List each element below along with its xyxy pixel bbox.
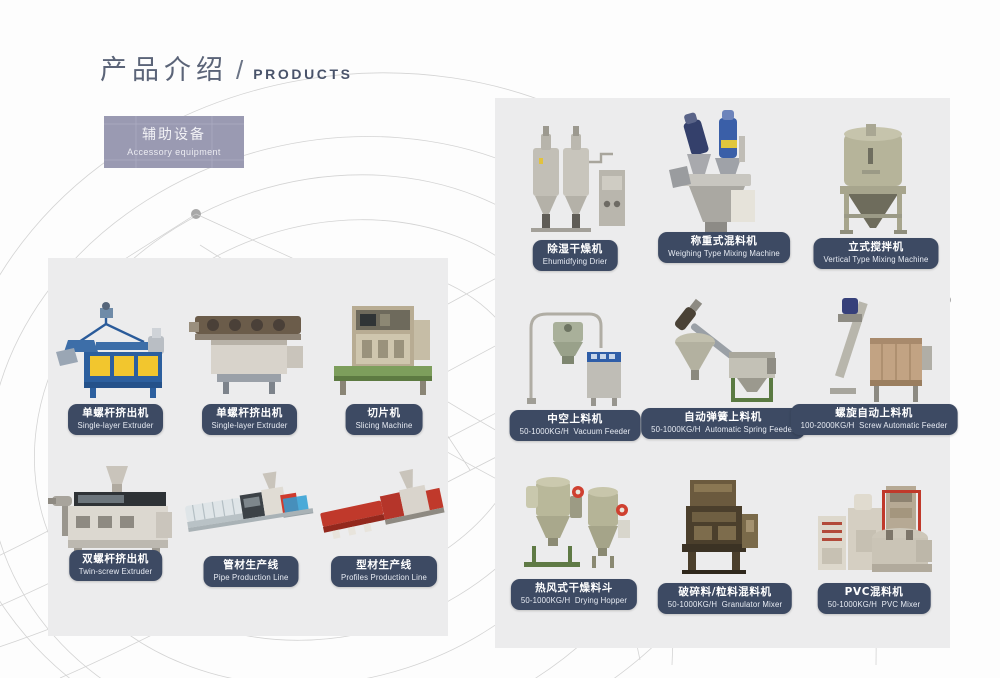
product-label-en: Profiles Production Line: [341, 573, 427, 583]
product-spec: 50-1000KG/H: [668, 600, 717, 609]
product-label-cn: 单螺杆挤出机: [78, 407, 154, 420]
product-spec: 50-1000KG/H: [651, 425, 700, 434]
product-label-cn: 切片机: [356, 407, 413, 420]
product-label-cn: PVC混料机: [828, 586, 921, 599]
single-layer-extruder-illustration: [48, 296, 183, 401]
accessory-equipment-badge: 辅助设备 Accessory equipment: [104, 116, 244, 168]
vacuum-feeder-illustration: [515, 298, 635, 410]
catalog-page: 产品介绍 / PRODUCTS 辅助设备 Accessory equipment: [0, 0, 1000, 678]
product-label-cn: 除湿干燥机: [543, 243, 608, 256]
product-single-layer-extruder-1[interactable]: 单螺杆挤出机 Single-layer Extruder: [48, 296, 183, 431]
product-label: 管材生产线 Pipe Production Line: [204, 556, 299, 587]
product-label-cn: 称重式混料机: [668, 235, 780, 248]
product-label-cn: 双螺杆挤出机: [79, 553, 152, 566]
page-title-en: PRODUCTS: [253, 66, 352, 82]
product-screw-automatic-feeder[interactable]: 螺旋自动上料机 100-2000KG/H Screw Automatic Fee…: [812, 292, 936, 438]
weighing-mixing-machine-illustration: [665, 110, 783, 240]
product-single-layer-extruder-2[interactable]: 单螺杆挤出机 Single-layer Extruder: [183, 296, 316, 431]
product-spec: 50-1000KG/H: [520, 427, 569, 436]
product-granulator-mixer[interactable]: 破碎料/粒料混料机 50-1000KG/H Granulator Mixer: [670, 470, 780, 606]
product-label: 中空上料机 50-1000KG/H Vacuum Feeder: [510, 410, 641, 441]
slicing-machine-illustration: [320, 296, 448, 401]
product-label-en: Single-layer Extruder: [78, 421, 154, 431]
product-label: 螺旋自动上料机 100-2000KG/H Screw Automatic Fee…: [791, 404, 958, 435]
product-spec: 100-2000KG/H: [801, 421, 855, 430]
product-slicing-machine[interactable]: 切片机 Slicing Machine: [320, 296, 448, 431]
product-label: 自动弹簧上料机 50-1000KG/H Automatic Spring Fee…: [641, 408, 805, 439]
vertical-mixing-machine-illustration: [818, 116, 934, 242]
product-pvc-mixer[interactable]: PVC混料机 50-1000KG/H PVC Mixer: [808, 470, 940, 606]
product-label-cn: 型材生产线: [341, 559, 427, 572]
product-spec: 50-1000KG/H: [828, 600, 877, 609]
product-label-en-text: PVC Mixer: [882, 600, 921, 609]
product-profiles-production-line[interactable]: 型材生产线 Profiles Production Line: [320, 468, 448, 583]
product-pipe-production-line[interactable]: 管材生产线 Pipe Production Line: [185, 468, 317, 583]
product-label-en: 50-1000KG/H Granulator Mixer: [668, 600, 782, 610]
product-label-cn: 管材生产线: [214, 559, 289, 572]
product-label-en-text: Vacuum Feeder: [574, 427, 631, 436]
product-label-en: 50-1000KG/H Automatic Spring Feeder: [651, 425, 795, 435]
profiles-production-line-illustration: [320, 468, 448, 560]
product-label-en: Twin-screw Extruder: [79, 567, 152, 577]
product-label: 热风式干燥料斗 50-1000KG/H Drying Hopper: [511, 579, 637, 610]
twin-screw-extruder-illustration: [48, 462, 183, 560]
automatic-spring-feeder-illustration: [663, 296, 783, 410]
product-label-en-text: Drying Hopper: [575, 596, 627, 605]
product-label: 立式搅拌机 Vertical Type Mixing Machine: [813, 238, 938, 269]
pvc-mixer-illustration: [808, 470, 940, 578]
page-title-cn: 产品介绍: [100, 48, 228, 87]
product-label-en: Ehumidfying Drier: [543, 257, 608, 267]
product-label: 单螺杆挤出机 Single-layer Extruder: [68, 404, 164, 435]
product-label: 型材生产线 Profiles Production Line: [331, 556, 437, 587]
product-label-en-text: Automatic Spring Feeder: [705, 425, 795, 434]
page-title-separator: /: [236, 55, 243, 86]
product-label-en: Pipe Production Line: [214, 573, 289, 583]
product-drying-hopper[interactable]: 热风式干燥料斗 50-1000KG/H Drying Hopper: [512, 466, 636, 606]
product-spec: 50-1000KG/H: [521, 596, 570, 605]
product-label-cn: 立式搅拌机: [823, 241, 928, 254]
product-label-en: Single-layer Extruder: [212, 421, 288, 431]
product-label-en: 50-1000KG/H Vacuum Feeder: [520, 427, 631, 437]
product-label-en: 100-2000KG/H Screw Automatic Feeder: [801, 421, 948, 431]
product-label-cn: 热风式干燥料斗: [521, 582, 627, 595]
badge-label-cn: 辅助设备: [142, 127, 206, 144]
product-label-cn: 螺旋自动上料机: [801, 407, 948, 420]
product-label: 单螺杆挤出机 Single-layer Extruder: [202, 404, 298, 435]
product-label-en: Vertical Type Mixing Machine: [823, 255, 928, 265]
product-twin-screw-extruder[interactable]: 双螺杆挤出机 Twin-screw Extruder: [48, 462, 183, 582]
product-label: 破碎料/粒料混料机 50-1000KG/H Granulator Mixer: [658, 583, 792, 614]
product-label-en: 50-1000KG/H PVC Mixer: [828, 600, 921, 610]
product-label-cn: 单螺杆挤出机: [212, 407, 288, 420]
dehumidifying-drier-illustration: [515, 118, 635, 238]
product-automatic-spring-feeder[interactable]: 自动弹簧上料机 50-1000KG/H Automatic Spring Fee…: [663, 296, 783, 438]
product-dehumidifying-drier[interactable]: 除湿干燥机 Ehumidfying Drier: [515, 118, 635, 268]
product-label-en: Slicing Machine: [356, 421, 413, 431]
granulator-mixer-illustration: [670, 470, 780, 578]
page-title: 产品介绍 / PRODUCTS: [100, 48, 353, 87]
product-label: 称重式混料机 Weighing Type Mixing Machine: [658, 232, 790, 263]
product-label-en-text: Granulator Mixer: [722, 600, 782, 609]
single-layer-extruder-roller-illustration: [183, 296, 316, 401]
product-label-en: 50-1000KG/H Drying Hopper: [521, 596, 627, 606]
product-label: 除湿干燥机 Ehumidfying Drier: [533, 240, 618, 271]
product-label: 切片机 Slicing Machine: [346, 404, 423, 435]
product-label: 双螺杆挤出机 Twin-screw Extruder: [69, 550, 162, 581]
product-label-en-text: Screw Automatic Feeder: [859, 421, 947, 430]
product-weighing-mixing-machine[interactable]: 称重式混料机 Weighing Type Mixing Machine: [665, 110, 783, 268]
product-label-cn: 中空上料机: [520, 413, 631, 426]
product-vertical-mixing-machine[interactable]: 立式搅拌机 Vertical Type Mixing Machine: [818, 116, 934, 268]
product-label: PVC混料机 50-1000KG/H PVC Mixer: [818, 583, 931, 614]
product-label-cn: 自动弹簧上料机: [651, 411, 795, 424]
badge-label-en: Accessory equipment: [127, 147, 221, 157]
drying-hopper-illustration: [512, 466, 636, 578]
screw-automatic-feeder-illustration: [812, 292, 936, 410]
product-label-en: Weighing Type Mixing Machine: [668, 249, 780, 259]
product-label-cn: 破碎料/粒料混料机: [668, 586, 782, 599]
pipe-production-line-illustration: [185, 468, 317, 560]
product-vacuum-feeder[interactable]: 中空上料机 50-1000KG/H Vacuum Feeder: [515, 298, 635, 438]
